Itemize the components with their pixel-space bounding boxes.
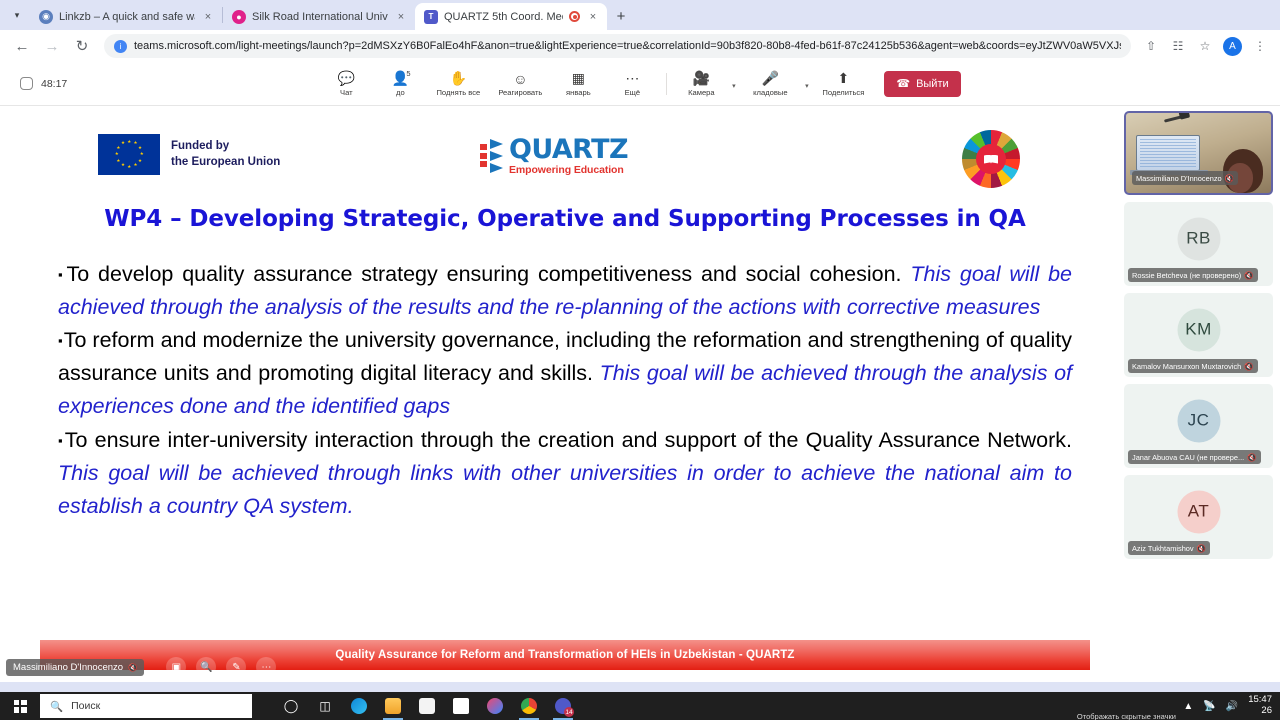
quartz-logo-name: QUARTZ xyxy=(509,136,628,163)
recording-indicator-icon[interactable] xyxy=(569,11,580,22)
layout-icon[interactable]: ▣ xyxy=(166,657,186,677)
windows-taskbar: 🔍 Поиск ◯ ◫ 14 Отображать скрытые значки… xyxy=(0,692,1280,720)
menu-dots-icon[interactable]: ⋮ xyxy=(1248,34,1272,58)
browser-window: ▾ ◉ Linkzb – A quick and safe way t × ● … xyxy=(0,0,1280,692)
slide-bullet-3-blue: This goal will be achieved through links… xyxy=(58,461,1072,518)
forward-button[interactable]: → xyxy=(38,32,66,60)
view-button[interactable]: ▦ январь xyxy=(551,70,605,97)
microsoft-store-icon[interactable] xyxy=(410,692,444,720)
annotate-icon[interactable]: ✎ xyxy=(226,657,246,677)
mic-button[interactable]: 🎤 кладовые xyxy=(739,70,801,97)
participant-roster: Massimiliano D'Innocenzo 🔇 RB Rossie Bet… xyxy=(1120,106,1280,682)
participant-name: Aziz Tukhtamishov xyxy=(1132,544,1194,553)
react-button[interactable]: ☺ Реагировать xyxy=(489,70,551,97)
chat-icon: 💬 xyxy=(338,70,355,87)
new-tab-button[interactable]: + xyxy=(607,2,635,30)
camera-label: Камера xyxy=(688,88,715,97)
participant-name-chip: Aziz Tukhtamishov 🔇 xyxy=(1128,541,1210,555)
raise-hand-button[interactable]: ✋ Поднять все xyxy=(427,70,489,97)
share-screen-button[interactable]: ⬆ Поделиться xyxy=(812,70,874,97)
taskbar-search-placeholder: Поиск xyxy=(71,700,100,712)
eu-flag-icon: ★★★★★★★★★★★★ xyxy=(98,134,160,175)
slide-bullet-list: ▪To develop quality assurance strategy e… xyxy=(40,258,1090,523)
tray-tooltip: Отображать скрытые значки xyxy=(1077,712,1176,720)
mic-muted-icon: 🔇 xyxy=(128,663,137,672)
taskbar-search-input[interactable]: 🔍 Поиск xyxy=(40,694,252,718)
more-button[interactable]: ⋯ Ещё xyxy=(605,70,659,97)
mic-label: кладовые xyxy=(753,88,787,97)
teams-icon: T xyxy=(424,10,438,24)
participants-button[interactable]: 👤 5 до xyxy=(373,70,427,97)
slide-bullet-3: ▪To ensure inter-university interaction … xyxy=(58,424,1072,523)
participant-tile-km[interactable]: KM Kamalov Mansurxon Muxtarovich 🔇 xyxy=(1124,293,1273,377)
leave-meeting-button[interactable]: ☎ Выйти xyxy=(884,71,960,97)
share-icon[interactable]: ⇧ xyxy=(1139,34,1163,58)
slide-bullet-1: ▪To develop quality assurance strategy e… xyxy=(58,258,1072,324)
search-icon: 🔍 xyxy=(50,700,63,713)
toolbar-divider xyxy=(666,73,667,95)
presenter-overlay-bar: Massimiliano D'Innocenzo 🔇 ▣ 🔍 ✎ ⋯ xyxy=(0,652,1090,682)
browser-tab-1-title: Linkzb – A quick and safe way t xyxy=(59,11,195,23)
participants-label: до xyxy=(396,88,405,97)
eu-funding-line1: Funded by xyxy=(171,139,280,154)
edge-icon[interactable] xyxy=(342,692,376,720)
participant-name: Janar Abuova CAU (не провере... xyxy=(1132,453,1244,462)
mic-muted-icon: 🔇 xyxy=(1244,362,1253,371)
participant-name-chip: Rossie Betcheva (не проверено) 🔇 xyxy=(1128,268,1258,282)
presentation-slide: ★★★★★★★★★★★★ Funded by the European Unio… xyxy=(40,122,1090,670)
camera-chevron-down-icon[interactable]: ▾ xyxy=(728,78,739,90)
participant-name-chip: Kamalov Mansurxon Muxtarovich 🔇 xyxy=(1128,359,1258,373)
bullet-marker-icon: ▪ xyxy=(58,333,63,348)
mic-muted-icon: 🔇 xyxy=(1197,544,1206,553)
desk-lamp-icon xyxy=(1164,114,1186,122)
clock-date: 26 xyxy=(1261,706,1272,717)
shared-content-area[interactable]: ★★★★★★★★★★★★ Funded by the European Unio… xyxy=(0,106,1120,682)
volume-icon[interactable]: 🔊 xyxy=(1226,701,1238,712)
browser-toolbar: ← → ↻ i teams.microsoft.com/light-meetin… xyxy=(0,30,1280,62)
file-explorer-icon[interactable] xyxy=(376,692,410,720)
chrome-icon[interactable] xyxy=(512,692,546,720)
profile-avatar[interactable]: A xyxy=(1223,37,1242,56)
emoji-icon: ☺ xyxy=(513,70,527,87)
meeting-actions: 💬 Чат 👤 5 до ✋ Поднять все ☺ Реагировать… xyxy=(0,70,1280,97)
close-icon[interactable]: × xyxy=(586,11,600,23)
address-bar-url: teams.microsoft.com/light-meetings/launc… xyxy=(134,40,1121,52)
info-circle-icon[interactable]: i xyxy=(114,40,127,53)
participant-tile-at[interactable]: AT Aziz Tukhtamishov 🔇 xyxy=(1124,475,1273,559)
mic-muted-icon: 🔇 xyxy=(1247,453,1256,462)
slide-header: ★★★★★★★★★★★★ Funded by the European Unio… xyxy=(40,122,1090,192)
tab-search-chevron-down-icon[interactable]: ▾ xyxy=(4,0,30,30)
close-icon[interactable]: × xyxy=(201,11,215,23)
camera-off-icon: 🎥 xyxy=(693,70,710,87)
more-dots-icon[interactable]: ⋯ xyxy=(256,657,276,677)
extensions-icon[interactable]: ☷ xyxy=(1166,34,1190,58)
taskbar-clock[interactable]: 15:47 26 xyxy=(1248,695,1272,716)
system-tray: ▲ 📡 🔊 15:47 26 xyxy=(1183,695,1272,716)
slide-bullet-2: ▪To reform and modernize the university … xyxy=(58,324,1072,423)
mic-muted-icon: 🔇 xyxy=(1225,174,1234,183)
cortana-icon[interactable]: ◯ xyxy=(274,692,308,720)
mic-chevron-down-icon[interactable]: ▾ xyxy=(801,78,812,90)
quartz-logo-tagline: Empowering Education xyxy=(509,165,628,176)
avatar: JC xyxy=(1177,399,1220,442)
network-icon[interactable]: 📡 xyxy=(1203,701,1215,712)
teams-badge: 14 xyxy=(564,707,574,717)
teams-icon[interactable]: 14 xyxy=(546,692,580,720)
bullet-marker-icon: ▪ xyxy=(58,433,64,448)
pink-circle-icon: ● xyxy=(232,10,246,24)
mail-icon[interactable] xyxy=(444,692,478,720)
paint-icon[interactable] xyxy=(478,692,512,720)
close-icon[interactable]: × xyxy=(394,11,408,23)
back-button[interactable]: ← xyxy=(8,32,36,60)
toolbar-right-actions: ⇧ ☷ ☆ A ⋮ xyxy=(1139,34,1272,58)
chat-button[interactable]: 💬 Чат xyxy=(319,70,373,97)
presenter-name-chip: Massimiliano D'Innocenzo 🔇 xyxy=(6,659,144,676)
react-label: Реагировать xyxy=(498,88,542,97)
grid-view-icon: ▦ xyxy=(572,70,585,87)
taskbar-apps: ◯ ◫ 14 xyxy=(274,692,580,720)
eu-funding-line2: the European Union xyxy=(171,155,280,170)
reload-button[interactable]: ↻ xyxy=(68,32,96,60)
teams-meeting-toolbar: 48:17 💬 Чат 👤 5 до ✋ Поднять все ☺ Реаги… xyxy=(0,62,1280,106)
camera-button[interactable]: 🎥 Камера xyxy=(674,70,728,97)
view-label: январь xyxy=(566,88,591,97)
zoom-icon[interactable]: 🔍 xyxy=(196,657,216,677)
sdg-wheel-icon xyxy=(962,130,1020,188)
task-view-icon[interactable]: ◫ xyxy=(308,692,342,720)
mic-muted-icon: 🔇 xyxy=(1244,271,1253,280)
eu-funding-logo: ★★★★★★★★★★★★ Funded by the European Unio… xyxy=(98,134,280,175)
windows-start-icon[interactable] xyxy=(0,692,40,720)
participant-tile-rb[interactable]: RB Rossie Betcheva (не проверено) 🔇 xyxy=(1124,202,1273,286)
avatar: AT xyxy=(1177,490,1220,533)
bullet-marker-icon: ▪ xyxy=(58,267,66,282)
browser-tab-3[interactable]: T QUARTZ 5th Coord. Meetin × xyxy=(415,3,607,30)
raise-hand-label: Поднять все xyxy=(436,88,480,97)
browser-tab-3-title: QUARTZ 5th Coord. Meetin xyxy=(444,11,563,23)
more-label: Ещё xyxy=(625,88,641,97)
browser-tab-2[interactable]: ● Silk Road International Univers × xyxy=(223,3,415,30)
presenter-tools: ▣ 🔍 ✎ ⋯ xyxy=(166,657,276,677)
presenter-name: Massimiliano D'Innocenzo xyxy=(13,662,123,673)
bookmark-star-icon[interactable]: ☆ xyxy=(1193,34,1217,58)
address-bar[interactable]: i teams.microsoft.com/light-meetings/lau… xyxy=(104,34,1131,58)
browser-tab-2-title: Silk Road International Univers xyxy=(252,11,388,23)
participant-name: Massimiliano D'Innocenzo xyxy=(1136,174,1222,183)
slide-title: WP4 – Developing Strategic, Operative an… xyxy=(40,206,1090,232)
share-screen-icon: ⬆ xyxy=(837,70,849,87)
hangup-icon: ☎ xyxy=(896,77,910,90)
mic-off-icon: 🎤 xyxy=(762,70,779,87)
participant-name: Kamalov Mansurxon Muxtarovich xyxy=(1132,362,1241,371)
participant-tile-video[interactable]: Massimiliano D'Innocenzo 🔇 xyxy=(1124,111,1273,195)
avatar: KM xyxy=(1177,308,1220,351)
laptop-icon xyxy=(1136,135,1200,171)
meeting-stage: ★★★★★★★★★★★★ Funded by the European Unio… xyxy=(0,106,1280,682)
slide-bullet-1-black: To develop quality assurance strategy en… xyxy=(67,262,911,286)
globe-icon: ◉ xyxy=(39,10,53,24)
chevron-up-icon[interactable]: ▲ xyxy=(1183,701,1193,712)
tab-strip: ▾ ◉ Linkzb – A quick and safe way t × ● … xyxy=(0,0,1280,30)
participant-name-chip: Massimiliano D'Innocenzo 🔇 xyxy=(1132,171,1238,185)
participant-name: Rossie Betcheva (не проверено) xyxy=(1132,271,1241,280)
participant-name-chip: Janar Abuova CAU (не провере... 🔇 xyxy=(1128,450,1261,464)
chat-label: Чат xyxy=(340,88,353,97)
quartz-logo: QUARTZ Empowering Education xyxy=(480,136,628,176)
browser-tab-1[interactable]: ◉ Linkzb – A quick and safe way t × xyxy=(30,3,222,30)
share-screen-label: Поделиться xyxy=(822,88,864,97)
raise-hand-icon: ✋ xyxy=(450,70,467,87)
slide-bullet-3-black: To ensure inter-university interaction t… xyxy=(65,428,1072,452)
avatar: RB xyxy=(1177,217,1220,260)
participant-tile-jc[interactable]: JC Janar Abuova CAU (не провере... 🔇 xyxy=(1124,384,1273,468)
leave-meeting-label: Выйти xyxy=(916,78,949,90)
quartz-mark-icon xyxy=(480,139,503,173)
eu-funding-text: Funded by the European Union xyxy=(171,139,280,169)
more-dots-icon: ⋯ xyxy=(625,70,639,87)
participants-count: 5 xyxy=(406,69,410,78)
